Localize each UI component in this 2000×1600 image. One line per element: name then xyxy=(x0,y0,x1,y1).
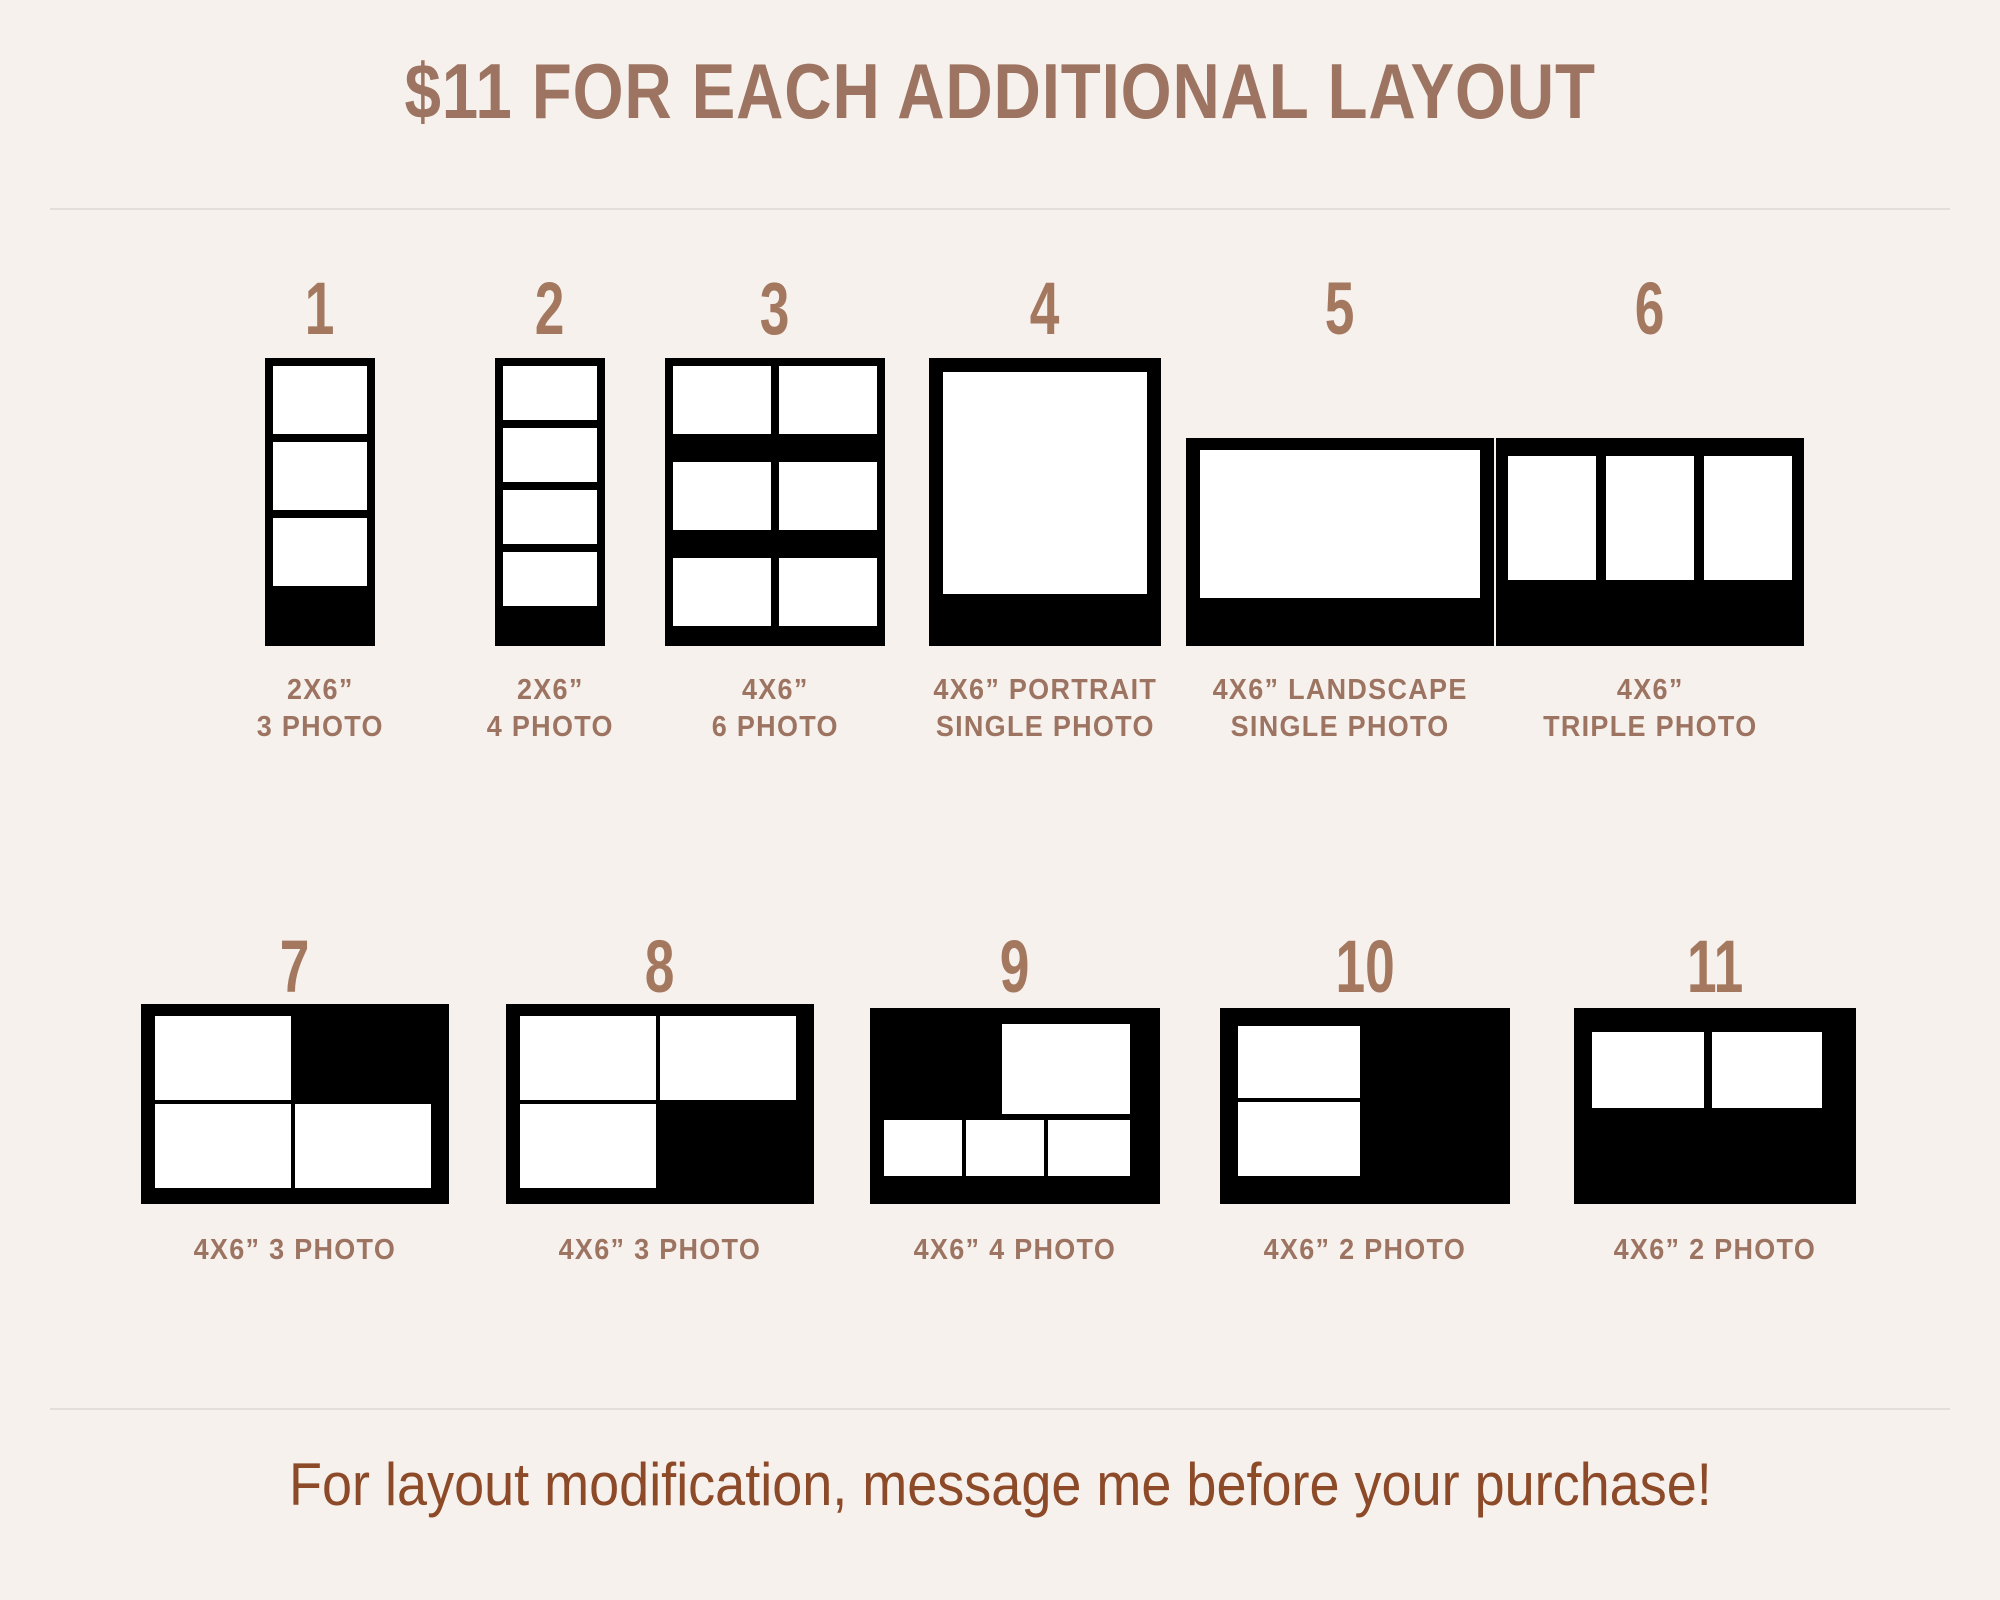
layout-thumb-10 xyxy=(1220,1004,1510,1204)
photo-slot xyxy=(966,1120,1044,1176)
triple-photo-frame xyxy=(1496,438,1804,646)
photo-slot xyxy=(503,490,597,544)
layout-option-10[interactable]: 10 4X6” 2 PHOTO xyxy=(1190,930,1540,1269)
layout-caption-9: 4X6” 4 PHOTO xyxy=(914,1232,1116,1269)
photo-slot xyxy=(1704,456,1792,580)
photo-slot xyxy=(273,442,367,510)
layout-number-1: 1 xyxy=(305,272,335,346)
layout-thumb-5 xyxy=(1186,346,1494,646)
photo-slot xyxy=(273,518,367,586)
photo-slot xyxy=(1508,456,1596,580)
photo-slot xyxy=(1200,450,1480,598)
layout-caption-4: 4X6” PORTRAIT SINGLE PHOTO xyxy=(933,672,1157,746)
photo-slot xyxy=(1606,456,1694,580)
layout-caption-7: 4X6” 3 PHOTO xyxy=(194,1232,396,1269)
collage-frame-9 xyxy=(870,1008,1160,1204)
layout-thumb-2 xyxy=(495,346,605,646)
photo-grid-frame xyxy=(665,358,885,646)
layout-number-4: 4 xyxy=(1030,272,1060,346)
layout-caption-2: 2X6” 4 PHOTO xyxy=(486,672,613,746)
divider-bottom xyxy=(50,1408,1950,1410)
layout-number-3: 3 xyxy=(760,272,790,346)
layout-thumb-3 xyxy=(665,346,885,646)
photo-slot xyxy=(884,1120,962,1176)
layout-number-9: 9 xyxy=(1000,930,1030,1004)
photo-strip-frame xyxy=(265,358,375,646)
layout-number-11: 11 xyxy=(1687,930,1743,1004)
layout-row-2: 7 4X6” 3 PHOTO 8 4X6” 3 PHOTO xyxy=(0,930,2000,1269)
layout-number-2: 2 xyxy=(535,272,565,346)
page-title: $11 FOR EACH ADDITIONAL LAYOUT xyxy=(404,52,1595,130)
collage-frame-7 xyxy=(141,1004,449,1204)
photo-slot xyxy=(779,558,877,626)
layout-number-8: 8 xyxy=(645,930,675,1004)
layout-thumb-9 xyxy=(870,1004,1160,1204)
photo-slot xyxy=(943,372,1147,594)
photo-slot xyxy=(673,462,771,530)
layout-caption-3: 4X6” 6 PHOTO xyxy=(711,672,838,746)
footer-note-wrap: For layout modification, message me befo… xyxy=(0,1452,2000,1518)
photo-slot xyxy=(503,428,597,482)
photo-slot xyxy=(779,462,877,530)
landscape-single-frame xyxy=(1186,438,1494,646)
layout-option-3[interactable]: 3 4X6” 6 PHOTO xyxy=(650,272,900,746)
layout-caption-6: 4X6” TRIPLE PHOTO xyxy=(1543,672,1757,746)
photo-slot xyxy=(1238,1026,1360,1098)
layout-caption-5: 4X6” LANDSCAPE SINGLE PHOTO xyxy=(1212,672,1467,746)
layout-thumb-4 xyxy=(929,346,1161,646)
photo-slot xyxy=(155,1104,291,1188)
layout-caption-10: 4X6” 2 PHOTO xyxy=(1264,1232,1466,1269)
photo-slot xyxy=(503,552,597,606)
layout-number-5: 5 xyxy=(1325,272,1355,346)
portrait-single-frame xyxy=(929,358,1161,646)
layout-thumb-1 xyxy=(265,346,375,646)
collage-frame-10 xyxy=(1220,1008,1510,1204)
layout-option-6[interactable]: 6 4X6” TRIPLE PHOTO xyxy=(1490,272,1810,746)
page-title-wrap: $11 FOR EACH ADDITIONAL LAYOUT xyxy=(0,0,2000,130)
photo-slot xyxy=(273,366,367,434)
photo-slot xyxy=(1238,1102,1360,1176)
layout-option-1[interactable]: 1 2X6” 3 PHOTO xyxy=(190,272,450,746)
layout-caption-8: 4X6” 3 PHOTO xyxy=(559,1232,761,1269)
photo-slot xyxy=(520,1016,656,1100)
layout-option-5[interactable]: 5 4X6” LANDSCAPE SINGLE PHOTO xyxy=(1190,272,1490,746)
layout-number-6: 6 xyxy=(1635,272,1665,346)
photo-slot xyxy=(1048,1120,1130,1176)
photo-strip-frame xyxy=(495,358,605,646)
footer-note: For layout modification, message me befo… xyxy=(289,1452,1712,1518)
photo-slot xyxy=(155,1016,291,1100)
layout-option-2[interactable]: 2 2X6” 4 PHOTO xyxy=(450,272,650,746)
layout-option-8[interactable]: 8 4X6” 3 PHOTO xyxy=(480,930,840,1269)
layout-caption-11: 4X6” 2 PHOTO xyxy=(1614,1232,1816,1269)
photo-slot xyxy=(1002,1024,1130,1114)
layout-thumb-6 xyxy=(1496,346,1804,646)
layout-number-10: 10 xyxy=(1335,930,1394,1004)
photo-slot xyxy=(295,1104,431,1188)
photo-slot xyxy=(673,366,771,434)
photo-slot xyxy=(503,366,597,420)
layout-option-11[interactable]: 11 4X6” 2 PHOTO xyxy=(1540,930,1890,1269)
photo-slot xyxy=(779,366,877,434)
photo-slot xyxy=(673,558,771,626)
photo-slot xyxy=(1712,1032,1822,1108)
layout-options-page: $11 FOR EACH ADDITIONAL LAYOUT 1 2X6” 3 … xyxy=(0,0,2000,1600)
layout-number-7: 7 xyxy=(280,930,310,1004)
layout-option-9[interactable]: 9 4X6” 4 PHOTO xyxy=(840,930,1190,1269)
layout-thumb-8 xyxy=(506,1004,814,1204)
layout-option-7[interactable]: 7 4X6” 3 PHOTO xyxy=(110,930,480,1269)
photo-slot xyxy=(520,1104,656,1188)
layout-option-4[interactable]: 4 4X6” PORTRAIT SINGLE PHOTO xyxy=(900,272,1190,746)
collage-frame-8 xyxy=(506,1004,814,1204)
photo-slot xyxy=(1592,1032,1704,1108)
collage-frame-11 xyxy=(1574,1008,1856,1204)
divider-top xyxy=(50,208,1950,210)
layout-caption-1: 2X6” 3 PHOTO xyxy=(256,672,383,746)
layout-thumb-7 xyxy=(141,1004,449,1204)
layout-row-1: 1 2X6” 3 PHOTO 2 2X6” 4 P xyxy=(0,272,2000,746)
photo-slot xyxy=(660,1016,796,1100)
layout-thumb-11 xyxy=(1574,1004,1856,1204)
